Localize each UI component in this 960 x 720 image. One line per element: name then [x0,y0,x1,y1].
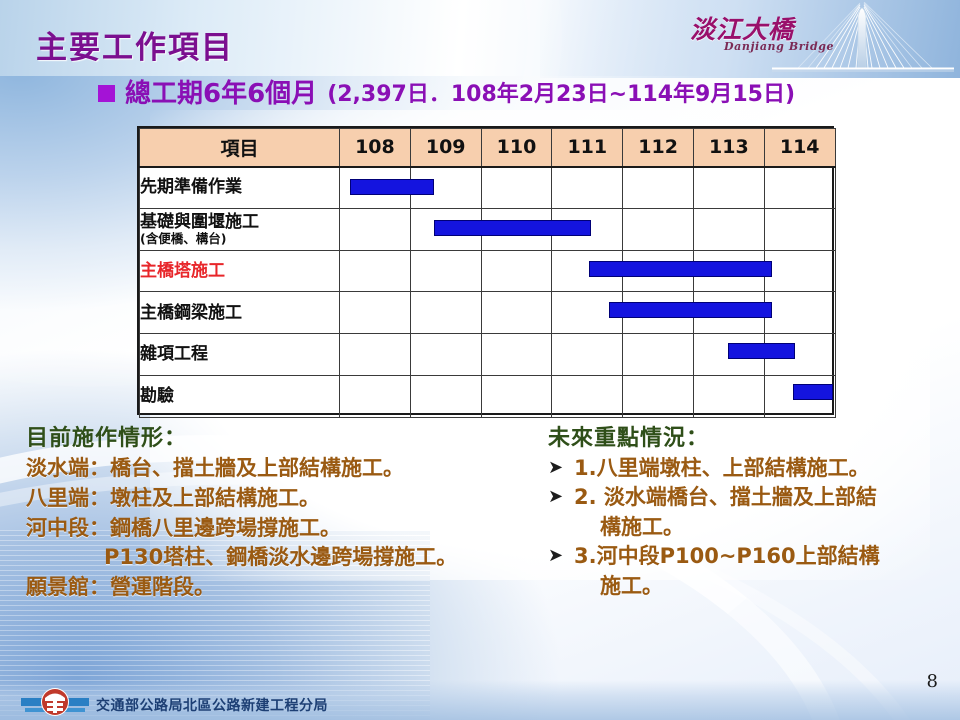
gantt-row: 先期準備作業 [140,167,836,209]
future-focus-item: ➤3.河中段P100~P160上部結構 [548,542,948,571]
future-focus-block: 未來重點情況： ➤1.八里端墩柱、上部結構施工。➤2. 淡水端橋台、擋土牆及上部… [548,420,948,601]
gantt-header-year-108: 108 [340,129,411,167]
gantt-cell-114 [764,167,835,209]
gantt-cell-110 [481,250,552,292]
gantt-header-year-113: 113 [693,129,764,167]
current-status-line: P130塔柱、鋼橋淡水邊跨場撐施工。 [26,543,546,573]
future-focus-items: ➤1.八里端墩柱、上部結構施工。➤2. 淡水端橋台、擋土牆及上部結構施工。➤3.… [548,454,948,601]
future-focus-heading: 未來重點情況： [548,420,948,452]
gantt-cell-111 [552,334,623,376]
gantt-cell-114 [764,334,835,376]
gantt-cell-108 [340,250,411,292]
gantt-cell-114 [764,292,835,334]
current-status-line: 八里端：墩柱及上部結構施工。 [26,484,546,514]
gantt-cell-113 [693,250,764,292]
gantt-row-label: 主橋塔施工 [140,250,340,292]
gantt-cell-114 [764,375,835,417]
gantt-row-label: 基礎與圍堰施工(含便橋、構台) [140,208,340,250]
future-focus-item-text: 3.河中段P100~P160上部結構 [574,542,948,571]
gantt-cell-108 [340,292,411,334]
arrow-right-bullet-icon: ➤ [548,542,566,569]
gantt-row: 主橋塔施工 [140,250,836,292]
gantt-cell-108 [340,208,411,250]
gantt-cell-113 [693,334,764,376]
subtitle-row: 總工期6年6個月 (2,397日．108年2月23日~114年9月15日) [98,73,795,110]
gantt-header-year-109: 109 [410,129,481,167]
gantt-cell-113 [693,208,764,250]
page-title: 主要工作項目 [36,22,234,67]
gantt-cell-110 [481,334,552,376]
gantt-header-item: 項目 [140,129,340,167]
gantt-cell-109 [410,250,481,292]
slide-root: 淡江大橋 Danjiang Bridge 主要工作項目 總工期6年6個月 (2,… [0,0,960,720]
future-focus-item-continuation: 構施工。 [548,513,948,542]
gantt-cell-112 [623,375,694,417]
gantt-row-sublabel: (含便橋、構台) [140,232,339,246]
subtitle-main-text: 總工期6年6個月 [125,73,317,110]
gantt-header-year-111: 111 [552,129,623,167]
gantt-cell-110 [481,208,552,250]
gantt-cell-111 [552,208,623,250]
gantt-cell-113 [693,375,764,417]
gantt-header-year-114: 114 [764,129,835,167]
gantt-cell-113 [693,167,764,209]
gantt-row-label: 先期準備作業 [140,167,340,209]
current-status-heading: 目前施作情形： [26,420,546,452]
gantt-header-year-112: 112 [623,129,694,167]
gantt-cell-114 [764,250,835,292]
gantt-cell-112 [623,250,694,292]
gantt-cell-111 [552,375,623,417]
gantt-cell-108 [340,167,411,209]
thb-agency-logo-icon [20,684,90,718]
bridge-logo: 淡江大橋 Danjiang Bridge [664,2,954,76]
bridge-logo-english: Danjiang Bridge [724,40,834,53]
gantt-row-label: 勘驗 [140,375,340,417]
current-status-line: 河中段：鋼橋八里邊跨場撐施工。 [26,514,546,544]
current-status-line: 願景館：營運階段。 [26,573,546,603]
current-status-block: 目前施作情形： 淡水端：橋台、擋土牆及上部結構施工。八里端：墩柱及上部結構施工。… [26,420,546,603]
gantt-cell-113 [693,292,764,334]
gantt-cell-108 [340,375,411,417]
gantt-chart: 項目 108109110111112113114 先期準備作業基礎與圍堰施工(含… [137,126,834,415]
gantt-header-year-110: 110 [481,129,552,167]
arrow-right-bullet-icon: ➤ [548,454,566,481]
footer-agency-text: 交通部公路局北區公路新建工程分局 [96,695,328,715]
gantt-cell-109 [410,167,481,209]
future-focus-item-text: 1.八里端墩柱、上部結構施工。 [574,454,948,483]
current-status-line: 淡水端：橋台、擋土牆及上部結構施工。 [26,454,546,484]
gantt-cell-109 [410,208,481,250]
gantt-cell-112 [623,334,694,376]
gantt-cell-108 [340,334,411,376]
future-focus-item-text: 2. 淡水端橋台、擋土牆及上部結 [574,483,948,512]
gantt-cell-112 [623,292,694,334]
gantt-cell-111 [552,250,623,292]
future-focus-item: ➤1.八里端墩柱、上部結構施工。 [548,454,948,483]
future-focus-item-continuation: 施工。 [548,572,948,601]
gantt-header-row: 項目 108109110111112113114 [140,129,836,167]
gantt-row: 雜項工程 [140,334,836,376]
future-focus-item: ➤2. 淡水端橋台、擋土牆及上部結 [548,483,948,512]
gantt-cell-110 [481,292,552,334]
gantt-table: 項目 108109110111112113114 先期準備作業基礎與圍堰施工(含… [139,128,836,418]
gantt-row: 勘驗 [140,375,836,417]
gantt-cell-110 [481,167,552,209]
arrow-right-bullet-icon: ➤ [548,483,566,510]
gantt-cell-110 [481,375,552,417]
gantt-cell-114 [764,208,835,250]
gantt-table-head: 項目 108109110111112113114 [140,129,836,167]
gantt-cell-109 [410,334,481,376]
gantt-row: 基礎與圍堰施工(含便橋、構台) [140,208,836,250]
square-bullet-icon [98,85,115,102]
gantt-cell-111 [552,292,623,334]
gantt-cell-112 [623,167,694,209]
gantt-cell-112 [623,208,694,250]
current-status-lines: 淡水端：橋台、擋土牆及上部結構施工。八里端：墩柱及上部結構施工。河中段：鋼橋八里… [26,454,546,603]
gantt-row: 主橋鋼梁施工 [140,292,836,334]
gantt-row-label: 雜項工程 [140,334,340,376]
subtitle-date-range: (2,397日．108年2月23日~114年9月15日) [327,76,795,108]
gantt-cell-111 [552,167,623,209]
gantt-cell-109 [410,292,481,334]
gantt-table-body: 先期準備作業基礎與圍堰施工(含便橋、構台)主橋塔施工主橋鋼梁施工雜項工程勘驗 [140,167,836,418]
gantt-cell-109 [410,375,481,417]
gantt-row-label: 主橋鋼梁施工 [140,292,340,334]
page-number: 8 [927,671,938,692]
